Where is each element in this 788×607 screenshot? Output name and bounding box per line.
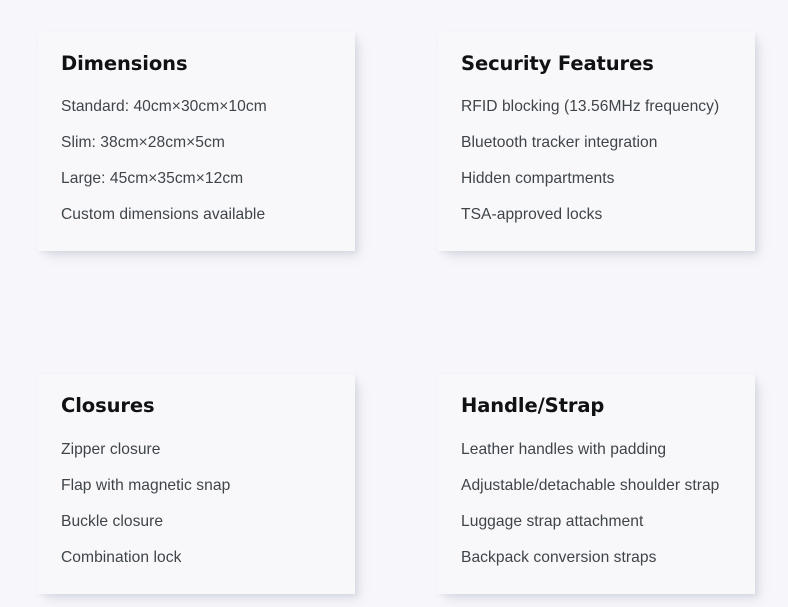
card-list: Standard: 40cm×30cm×10cm Slim: 38cm×28cm… xyxy=(61,89,333,233)
list-item: Luggage strap attachment xyxy=(461,504,733,540)
list-item: Custom dimensions available xyxy=(61,197,333,233)
card-title: Closures xyxy=(61,395,333,417)
list-item: Large: 45cm×35cm×12cm xyxy=(61,161,333,197)
spec-card-security-features: Security Features RFID blocking (13.56MH… xyxy=(438,32,755,251)
spec-card-handle-strap: Handle/Strap Leather handles with paddin… xyxy=(438,374,755,593)
list-item: Zipper closure xyxy=(61,432,333,468)
card-title: Handle/Strap xyxy=(461,395,733,417)
card-title: Dimensions xyxy=(61,53,333,75)
list-item: Standard: 40cm×30cm×10cm xyxy=(61,89,333,125)
list-item: Bluetooth tracker integration xyxy=(461,125,733,161)
list-item: RFID blocking (13.56MHz frequency) xyxy=(461,89,733,125)
card-list: RFID blocking (13.56MHz frequency) Bluet… xyxy=(461,89,733,233)
list-item: Buckle closure xyxy=(61,504,333,540)
spec-card-dimensions: Dimensions Standard: 40cm×30cm×10cm Slim… xyxy=(38,32,355,251)
list-item: Adjustable/detachable shoulder strap xyxy=(461,468,733,504)
list-item: TSA-approved locks xyxy=(461,197,733,233)
card-list: Leather handles with padding Adjustable/… xyxy=(461,432,733,576)
card-title: Security Features xyxy=(461,53,733,75)
list-item: Combination lock xyxy=(61,540,333,576)
list-item: Leather handles with padding xyxy=(461,432,733,468)
spec-card-grid: Dimensions Standard: 40cm×30cm×10cm Slim… xyxy=(38,32,755,594)
list-item: Backpack conversion straps xyxy=(461,540,733,576)
card-list: Zipper closure Flap with magnetic snap B… xyxy=(61,432,333,576)
list-item: Slim: 38cm×28cm×5cm xyxy=(61,125,333,161)
spec-card-closures: Closures Zipper closure Flap with magnet… xyxy=(38,374,355,593)
list-item: Hidden compartments xyxy=(461,161,733,197)
list-item: Flap with magnetic snap xyxy=(61,468,333,504)
